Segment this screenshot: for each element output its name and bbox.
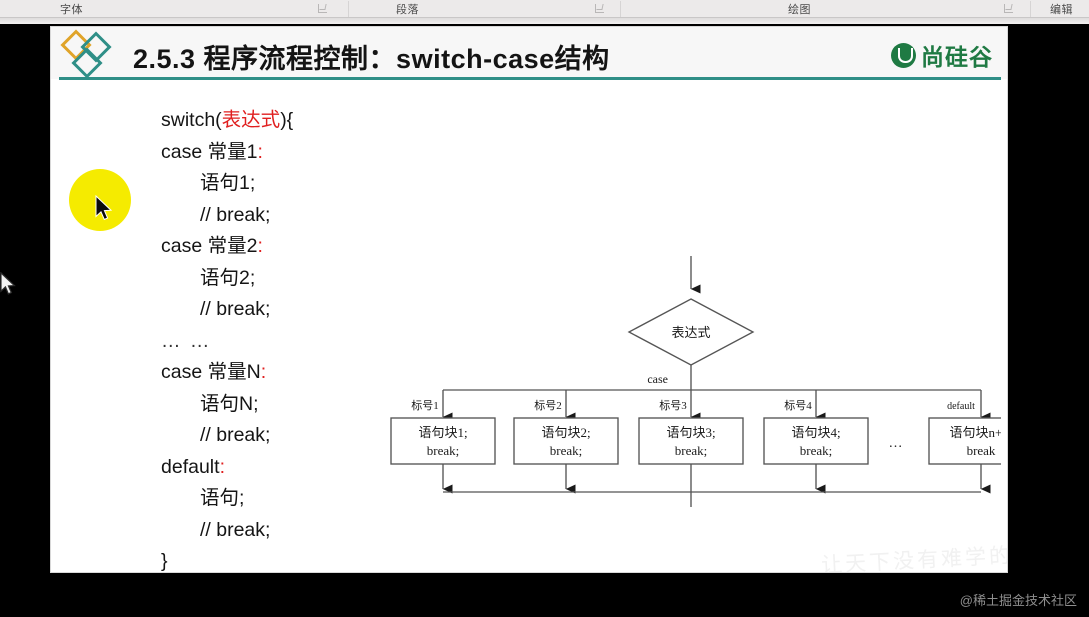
flow-case-edge-label: case — [647, 372, 668, 386]
code-line-15: } — [161, 546, 293, 573]
diamond-logo-icon — [63, 32, 125, 77]
ribbon-group-drawing[interactable]: 绘图 — [788, 0, 811, 18]
mouse-cursor-primary — [95, 195, 115, 228]
code-token: : — [261, 361, 266, 383]
ribbon-group-label-paragraph: 段落 — [396, 1, 419, 17]
code-token: case 常量N — [161, 361, 261, 383]
ribbon-bar: 字体 段落 绘图 编辑 — [0, 0, 1089, 18]
flow-branch-label-3: 标号3 — [659, 398, 687, 412]
code-token: : — [220, 456, 225, 478]
footer-attribution: @稀土掘金技术社区 — [960, 590, 1077, 609]
code-token: : — [257, 141, 262, 163]
dialog-launcher-font-icon[interactable] — [318, 4, 327, 13]
code-token: // break; — [200, 204, 270, 226]
dialog-launcher-paragraph-icon[interactable] — [595, 4, 604, 13]
code-token: 语句N; — [200, 393, 259, 415]
flow-box-2-line2: break; — [550, 443, 582, 458]
code-line-4: // break; — [161, 200, 293, 232]
flow-branch-label-default: default — [947, 401, 975, 412]
slide-header-rule — [59, 77, 1001, 80]
ribbon-group-label-drawing: 绘图 — [788, 1, 811, 17]
flow-box-4-line2: break; — [800, 443, 832, 458]
code-token: : — [257, 235, 262, 257]
ribbon-group-font[interactable]: 字体 — [60, 0, 83, 18]
code-token: 语句; — [200, 487, 244, 509]
flow-ellipsis: … — [889, 436, 904, 451]
flowchart-svg: 表达式 case 标号1 标号2 标号3 标号4 default 语句块1; b… — [381, 242, 1001, 507]
code-token: switch( — [161, 109, 222, 131]
code-line-6: 语句2; — [161, 263, 293, 295]
flow-box-4-line1: 语句块4; — [791, 425, 840, 440]
flow-branch-label-1: 标号1 — [411, 398, 439, 412]
code-line-7: // break; — [161, 294, 293, 326]
switch-case-flowchart: 表达式 case 标号1 标号2 标号3 标号4 default 语句块1; b… — [381, 242, 1001, 507]
atguigu-u-mark-icon — [891, 43, 916, 68]
code-token: // break; — [200, 298, 270, 320]
code-line-9: case 常量N: — [161, 357, 293, 389]
ribbon-divider — [1030, 1, 1031, 17]
code-token: case 常量2 — [161, 235, 257, 257]
code-token: // break; — [200, 424, 270, 446]
code-line-12: default: — [161, 452, 293, 484]
code-line-11: // break; — [161, 420, 293, 452]
ribbon-shadow — [0, 18, 1089, 24]
flow-box-5-line2: break — [967, 443, 996, 458]
code-line-5: case 常量2: — [161, 231, 293, 263]
code-token: } — [161, 550, 168, 572]
ribbon-divider — [620, 1, 621, 17]
slide-canvas[interactable]: 2.5.3 程序流程控制：switch-case结构 尚硅谷 switch(表达… — [50, 26, 1008, 573]
slide-watermark: 让天下没有难学的技术 — [820, 537, 1008, 573]
flow-box-5-line1: 语句块n+1; — [950, 425, 1001, 440]
code-line-2: case 常量1: — [161, 137, 293, 169]
code-line-14: // break; — [161, 515, 293, 547]
code-line-8: … … — [161, 326, 293, 358]
flow-branch-label-2: 标号2 — [534, 398, 562, 412]
powerpoint-presentation-window: 字体 段落 绘图 编辑 2.5.3 程序流程控制：switch-case结构 — [0, 0, 1089, 617]
flow-branch-label-4: 标号4 — [784, 398, 812, 412]
code-token: 语句2; — [200, 267, 255, 289]
ribbon-group-editing[interactable]: 编辑 — [1050, 0, 1073, 18]
ribbon-group-paragraph[interactable]: 段落 — [396, 0, 419, 18]
flow-box-3-line1: 语句块3; — [666, 425, 715, 440]
flow-box-3-line2: break; — [675, 443, 707, 458]
flow-box-1-line1: 语句块1; — [418, 425, 467, 440]
mouse-cursor-secondary — [0, 272, 18, 302]
ribbon-group-label-editing: 编辑 — [1050, 1, 1073, 17]
dialog-launcher-drawing-icon[interactable] — [1004, 4, 1013, 13]
code-token: // break; — [200, 519, 270, 541]
code-token: default — [161, 456, 220, 478]
code-line-10: 语句N; — [161, 389, 293, 421]
code-token: 表达式 — [222, 109, 281, 131]
atguigu-brand-logo: 尚硅谷 — [891, 38, 993, 72]
flow-box-1-line2: break; — [427, 443, 459, 458]
code-token: … … — [161, 330, 211, 352]
code-line-3: 语句1; — [161, 168, 293, 200]
atguigu-brand-text: 尚硅谷 — [921, 38, 993, 72]
code-token: ){ — [280, 109, 293, 131]
code-line-13: 语句; — [161, 483, 293, 515]
ribbon-divider — [348, 1, 349, 17]
slide-title: 2.5.3 程序流程控制：switch-case结构 — [133, 37, 610, 76]
code-line-1: switch(表达式){ — [161, 105, 293, 137]
flow-decision-label: 表达式 — [671, 325, 710, 340]
code-token: case 常量1 — [161, 141, 257, 163]
code-token: 语句1; — [200, 172, 255, 194]
ribbon-group-label-font: 字体 — [60, 1, 83, 17]
switch-case-code-block: switch(表达式){case 常量1:语句1;// break;case 常… — [161, 105, 293, 573]
flow-box-2-line1: 语句块2; — [541, 425, 590, 440]
